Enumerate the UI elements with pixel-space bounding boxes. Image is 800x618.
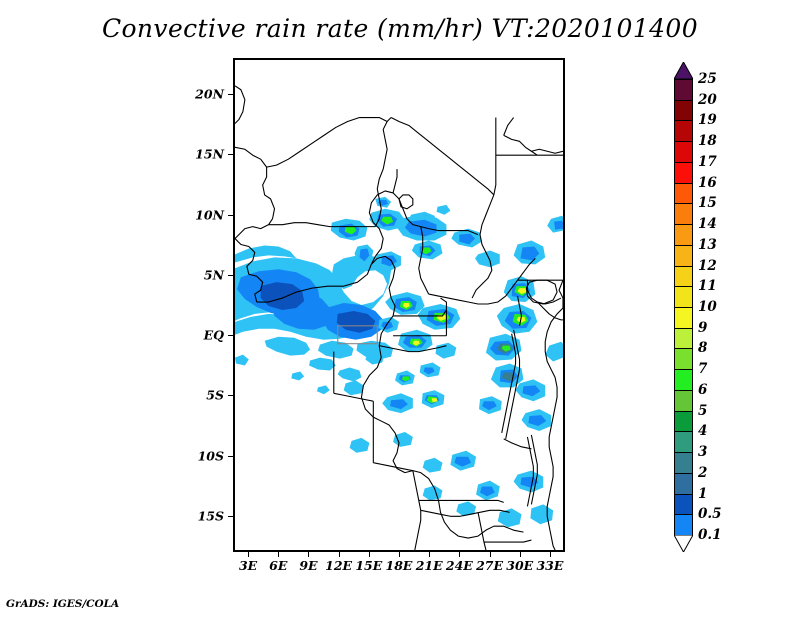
- colorbar-band[interactable]: [674, 183, 693, 205]
- colorbar-tick-label: 25: [698, 71, 717, 87]
- colorbar-tick-label: 0.5: [698, 506, 722, 522]
- colorbar-tick-label: 1: [698, 486, 707, 502]
- lat-tick-mark: [228, 395, 233, 396]
- lon-tick-label: 15E: [355, 558, 382, 573]
- colorbar-band[interactable]: [674, 79, 693, 101]
- colorbar-band[interactable]: [674, 390, 693, 412]
- page-title: Convective rain rate (mm/hr) VT:20201014…: [0, 14, 800, 43]
- colorbar-tick-label: 13: [698, 237, 717, 253]
- colorbar-tick-label: 16: [698, 175, 717, 191]
- colorbar-tick-label: 0.1: [698, 527, 722, 543]
- colorbar-cap-top: [674, 62, 693, 79]
- credit-text: GrADS: IGES/COLA: [6, 598, 119, 610]
- colorbar-band[interactable]: [674, 369, 693, 391]
- colorbar-band[interactable]: [674, 452, 693, 474]
- colorbar-band[interactable]: [674, 473, 693, 495]
- lon-tick-mark: [248, 552, 249, 557]
- lon-tick-label: 18E: [386, 558, 413, 573]
- lon-tick-mark: [490, 552, 491, 557]
- lat-tick-mark: [228, 154, 233, 155]
- lon-tick-label: 30E: [506, 558, 533, 573]
- lat-tick-mark: [228, 94, 233, 95]
- lon-tick-label: 3E: [239, 558, 257, 573]
- colorbar-band[interactable]: [674, 100, 693, 122]
- lon-tick-mark: [339, 552, 340, 557]
- colorbar-tick-label: 20: [698, 92, 717, 108]
- colorbar-tick-label: 2: [698, 465, 707, 481]
- lon-tick-label: 27E: [476, 558, 503, 573]
- lat-tick-mark: [228, 215, 233, 216]
- lon-tick-mark: [369, 552, 370, 557]
- lat-tick-label: 5N: [180, 267, 224, 282]
- colorbar-tick-label: 3: [698, 444, 707, 460]
- map-canvas: [235, 60, 563, 550]
- lon-tick-mark: [459, 552, 460, 557]
- map-panel[interactable]: [233, 58, 565, 552]
- colorbar-band[interactable]: [674, 266, 693, 288]
- colorbar-tick-label: 4: [698, 423, 707, 439]
- lat-tick-mark: [228, 456, 233, 457]
- lon-tick-mark: [399, 552, 400, 557]
- colorbar-tick-label: 19: [698, 112, 717, 128]
- colorbar-tick-label: 12: [698, 258, 717, 274]
- lat-tick-mark: [228, 335, 233, 336]
- lat-tick-label: 10S: [180, 448, 224, 463]
- colorbar-band[interactable]: [674, 141, 693, 163]
- colorbar-tick-label: 14: [698, 216, 717, 232]
- colorbar-tick-label: 17: [698, 154, 717, 170]
- colorbar-band[interactable]: [674, 348, 693, 370]
- colorbar-tick-label: 7: [698, 361, 707, 377]
- lat-tick-label: 15S: [180, 508, 224, 523]
- lat-tick-label: 5S: [180, 388, 224, 403]
- colorbar-band[interactable]: [674, 328, 693, 350]
- colorbar-tick-label: 11: [698, 278, 717, 294]
- lon-tick-mark: [278, 552, 279, 557]
- lon-tick-label: 9E: [299, 558, 317, 573]
- colorbar-band[interactable]: [674, 286, 693, 308]
- lon-tick-label: 6E: [269, 558, 287, 573]
- colorbar-tick-label: 6: [698, 382, 707, 398]
- rain-rate-field: [235, 197, 563, 527]
- colorbar-tick-label: 5: [698, 403, 707, 419]
- lon-tick-label: 12E: [325, 558, 352, 573]
- colorbar-band[interactable]: [674, 224, 693, 246]
- lat-tick-mark: [228, 275, 233, 276]
- colorbar-band[interactable]: [674, 162, 693, 184]
- lon-tick-mark: [520, 552, 521, 557]
- colorbar-tick-label: 8: [698, 340, 707, 356]
- colorbar-band[interactable]: [674, 120, 693, 142]
- colorbar-tick-label: 15: [698, 195, 717, 211]
- colorbar-band[interactable]: [674, 514, 693, 536]
- lat-tick-label: EQ: [180, 328, 224, 343]
- lon-tick-label: 21E: [416, 558, 443, 573]
- colorbar-band[interactable]: [674, 494, 693, 516]
- colorbar-band[interactable]: [674, 203, 693, 225]
- lon-tick-label: 24E: [446, 558, 473, 573]
- colorbar[interactable]: [674, 62, 693, 552]
- colorbar-band[interactable]: [674, 411, 693, 433]
- colorbar-band[interactable]: [674, 431, 693, 453]
- lon-tick-mark: [429, 552, 430, 557]
- lat-tick-label: 15N: [180, 147, 224, 162]
- colorbar-tick-label: 18: [698, 133, 717, 149]
- lat-tick-mark: [228, 516, 233, 517]
- lon-tick-mark: [308, 552, 309, 557]
- lat-tick-label: 20N: [180, 87, 224, 102]
- colorbar-tick-label: 10: [698, 299, 717, 315]
- colorbar-band[interactable]: [674, 307, 693, 329]
- colorbar-cap-bottom: [674, 535, 693, 552]
- lat-tick-label: 10N: [180, 207, 224, 222]
- colorbar-band[interactable]: [674, 245, 693, 267]
- lon-tick-mark: [550, 552, 551, 557]
- lon-tick-label: 33E: [536, 558, 563, 573]
- colorbar-tick-label: 9: [698, 320, 707, 336]
